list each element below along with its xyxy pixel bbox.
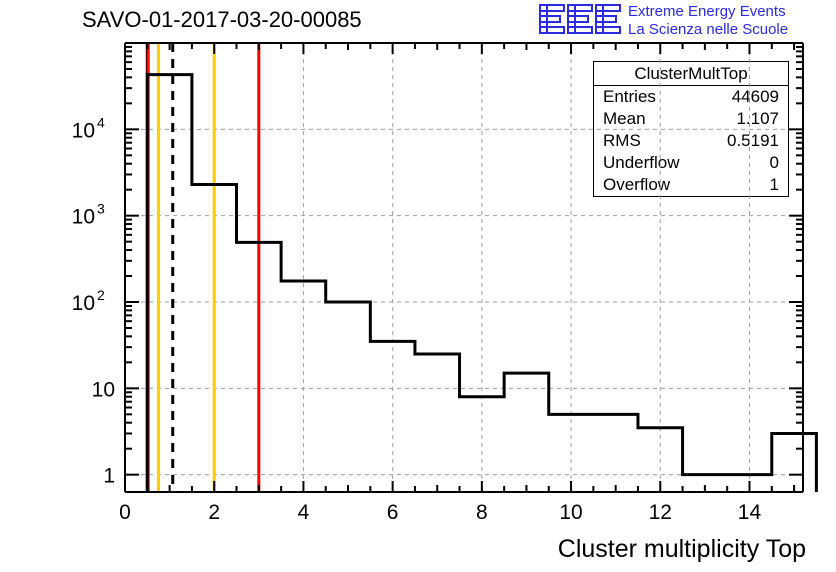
y-tick-label-base: 10: [72, 292, 95, 315]
y-tick-label-exponent: 3: [97, 201, 105, 217]
axes: [125, 43, 803, 492]
y-tick-label-base: 10: [72, 119, 95, 142]
x-tick-label: 10: [559, 501, 582, 524]
x-tick-label: 14: [738, 501, 762, 524]
y-tick-label: 10: [92, 378, 115, 401]
y-tick-label: 104: [72, 114, 105, 142]
y-tick-label-base: 10: [72, 206, 95, 229]
x-tick-label: 6: [387, 501, 399, 524]
y-tick-label: 103: [72, 201, 105, 229]
root-canvas: SAVO-01-2017-03-20-00085: [0, 0, 836, 572]
y-tick-label: 1: [103, 465, 115, 488]
x-tick-label: 0: [119, 501, 131, 524]
marker-lines: [147, 43, 259, 492]
tick-labels: 02468101214110102103104: [72, 114, 762, 524]
x-tick-label: 4: [298, 501, 310, 524]
x-tick-label: 2: [208, 501, 220, 524]
grid-lines: [125, 43, 803, 492]
x-tick-label: 12: [649, 501, 672, 524]
y-tick-label: 102: [72, 287, 105, 315]
histogram-plot: 02468101214110102103104: [0, 0, 836, 572]
y-tick-label-exponent: 4: [97, 114, 105, 130]
x-tick-label: 8: [476, 501, 488, 524]
y-tick-label-exponent: 2: [97, 287, 105, 303]
